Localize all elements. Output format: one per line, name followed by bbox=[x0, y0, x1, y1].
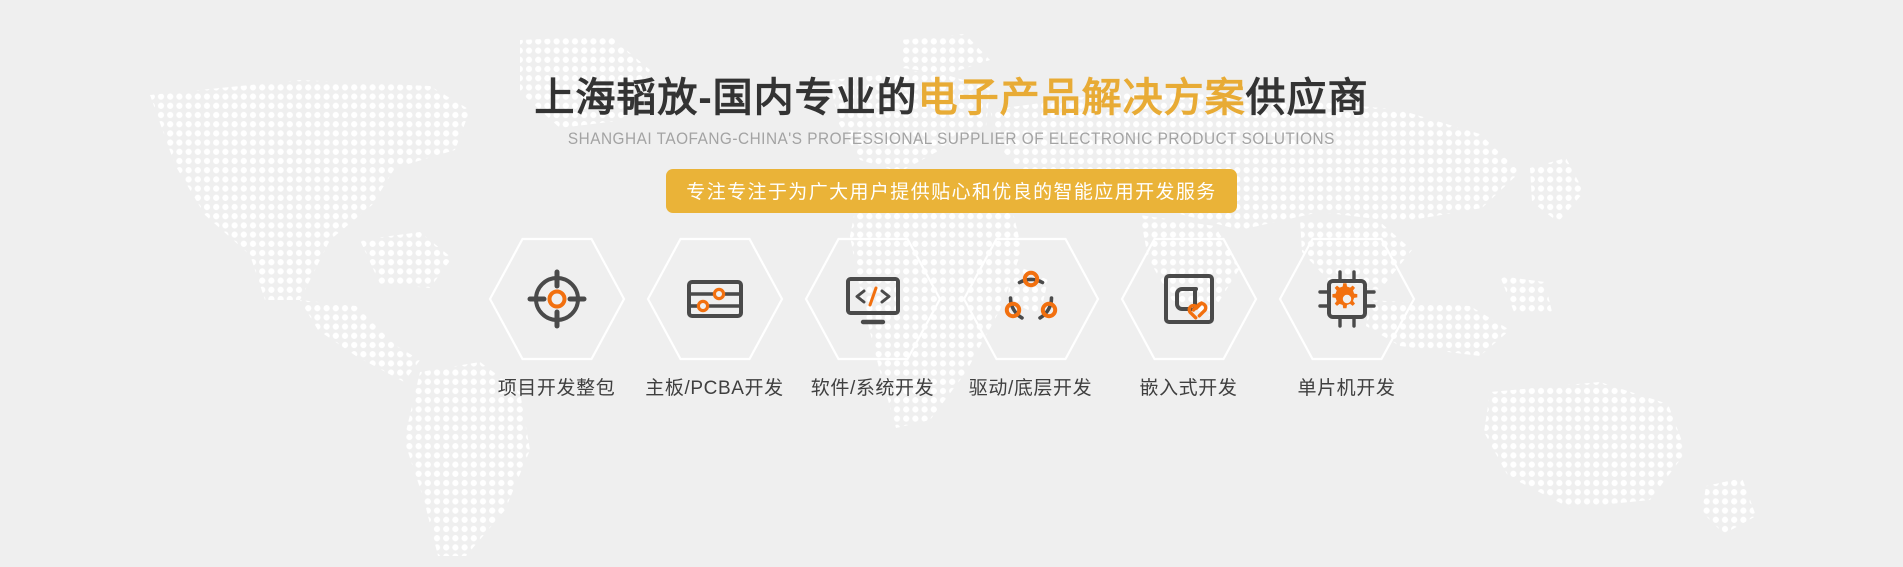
hexagon-frame bbox=[646, 237, 784, 361]
crosshair-target-icon bbox=[525, 267, 589, 331]
page-title: 上海韬放-国内专业的电子产品解决方案供应商 bbox=[534, 76, 1368, 121]
service-list: 项目开发整包 bbox=[488, 237, 1416, 400]
hexagon-frame bbox=[1120, 237, 1258, 361]
service-item-mcu[interactable]: 单片机开发 bbox=[1278, 237, 1416, 400]
service-label: 单片机开发 bbox=[1297, 373, 1395, 400]
chip-gear-icon bbox=[1315, 267, 1379, 331]
headline-part-one: 上海韬放-国内专业的 bbox=[534, 76, 917, 120]
service-item-embedded[interactable]: 嵌入式开发 bbox=[1120, 237, 1258, 400]
monitor-code-icon bbox=[841, 267, 905, 331]
service-item-driver-lowlevel[interactable]: 驱动/底层开发 bbox=[962, 237, 1100, 400]
service-item-pcba[interactable]: 主板/PCBA开发 bbox=[646, 237, 784, 400]
service-item-project-package[interactable]: 项目开发整包 bbox=[488, 237, 626, 400]
hexagon-frame bbox=[804, 237, 942, 361]
hexagon-frame bbox=[488, 237, 626, 361]
tagline-container: 专注专注于为广大用户提供贴心和优良的智能应用开发服务 bbox=[666, 169, 1236, 213]
pcb-board-icon bbox=[683, 267, 747, 331]
service-label: 软件/系统开发 bbox=[811, 373, 934, 400]
service-label: 项目开发整包 bbox=[498, 373, 616, 400]
hexagon-frame bbox=[962, 237, 1100, 361]
service-label: 主板/PCBA开发 bbox=[645, 373, 783, 400]
service-label: 嵌入式开发 bbox=[1139, 373, 1237, 400]
connected-nodes-icon bbox=[999, 267, 1063, 331]
headline-accent: 电子产品解决方案 bbox=[918, 76, 1246, 120]
headline-part-two: 供应商 bbox=[1246, 76, 1369, 120]
embedded-link-icon bbox=[1157, 267, 1221, 331]
service-label: 驱动/底层开发 bbox=[969, 373, 1092, 400]
banner-content: 上海韬放-国内专业的电子产品解决方案供应商 SHANGHAI TAOFANG-C… bbox=[0, 0, 1903, 567]
hero-banner: 上海韬放-国内专业的电子产品解决方案供应商 SHANGHAI TAOFANG-C… bbox=[0, 0, 1903, 567]
tagline-badge: 专注专注于为广大用户提供贴心和优良的智能应用开发服务 bbox=[666, 169, 1236, 213]
page-subtitle: SHANGHAI TAOFANG-CHINA'S PROFESSIONAL SU… bbox=[568, 130, 1335, 149]
hexagon-frame bbox=[1278, 237, 1416, 361]
service-item-software-system[interactable]: 软件/系统开发 bbox=[804, 237, 942, 400]
